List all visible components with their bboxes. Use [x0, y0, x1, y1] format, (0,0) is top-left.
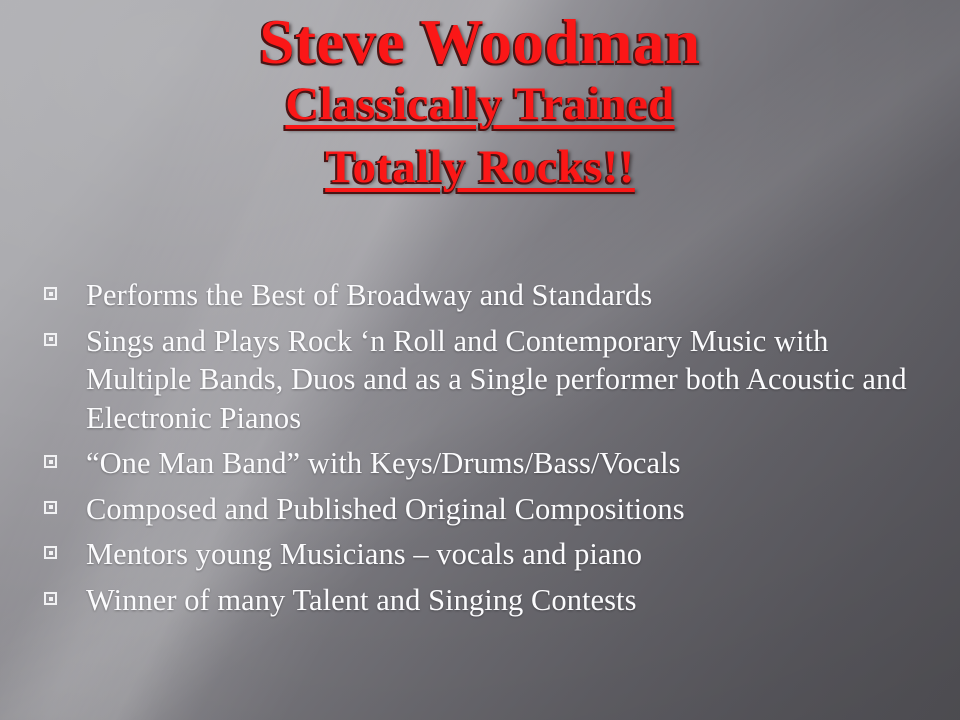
slide-subtitle-line-2: Totally Rocks!! [325, 141, 635, 194]
slide-subtitle-line-1: Classically Trained [285, 78, 674, 131]
slide-title: Steve Woodman [0, 10, 960, 74]
square-bullet-icon [44, 444, 86, 468]
list-item: Winner of many Talent and Singing Contes… [44, 581, 934, 620]
list-item-label: Composed and Published Original Composit… [86, 490, 934, 529]
subtitle-line-2-wrap: Totally Rocks!! [0, 131, 960, 194]
square-bullet-icon [44, 322, 86, 346]
bullet-list: Performs the Best of Broadway and Standa… [44, 276, 934, 627]
list-item-label: Sings and Plays Rock ‘n Roll and Contemp… [86, 322, 934, 438]
square-bullet-icon [44, 535, 86, 559]
list-item-label: Mentors young Musicians – vocals and pia… [86, 535, 934, 574]
presentation-slide: Steve Woodman Classically Trained Totall… [0, 0, 960, 720]
list-item: “One Man Band” with Keys/Drums/Bass/Voca… [44, 444, 934, 483]
square-bullet-icon [44, 490, 86, 514]
list-item: Sings and Plays Rock ‘n Roll and Contemp… [44, 322, 934, 438]
subtitle-line-1-wrap: Classically Trained [0, 74, 960, 131]
list-item: Performs the Best of Broadway and Standa… [44, 276, 934, 315]
square-bullet-icon [44, 581, 86, 605]
list-item-label: Winner of many Talent and Singing Contes… [86, 581, 934, 620]
title-block: Steve Woodman Classically Trained Totall… [0, 10, 960, 194]
list-item: Composed and Published Original Composit… [44, 490, 934, 529]
list-item: Mentors young Musicians – vocals and pia… [44, 535, 934, 574]
square-bullet-icon [44, 276, 86, 300]
slide-content: Steve Woodman Classically Trained Totall… [0, 0, 960, 720]
list-item-label: Performs the Best of Broadway and Standa… [86, 276, 934, 315]
list-item-label: “One Man Band” with Keys/Drums/Bass/Voca… [86, 444, 934, 483]
